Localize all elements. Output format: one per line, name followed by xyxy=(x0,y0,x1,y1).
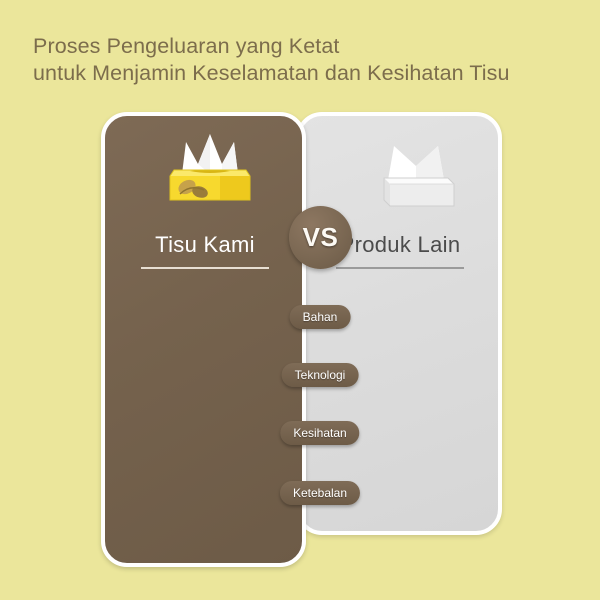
white-tissue-box-image xyxy=(368,132,464,214)
vs-label: VS xyxy=(303,222,339,253)
yellow-tissue-box-image xyxy=(160,124,260,208)
heading-our-product-rule xyxy=(141,267,269,269)
heading-our-product: Tisu Kami xyxy=(110,232,300,269)
category-badge-teknologi: Teknologi xyxy=(282,363,359,387)
category-badge-ketebalan: Ketebalan xyxy=(280,481,360,505)
comparison-diagram: Tisu Kami Produk Lain VS ✔Diperbuat dari… xyxy=(0,0,600,600)
heading-other-product-rule xyxy=(336,267,464,269)
category-badge-kesihatan: Kesihatan xyxy=(280,421,359,445)
vs-badge: VS xyxy=(289,206,352,269)
heading-our-product-label: Tisu Kami xyxy=(110,232,300,258)
category-badge-bahan: Bahan xyxy=(290,305,351,329)
